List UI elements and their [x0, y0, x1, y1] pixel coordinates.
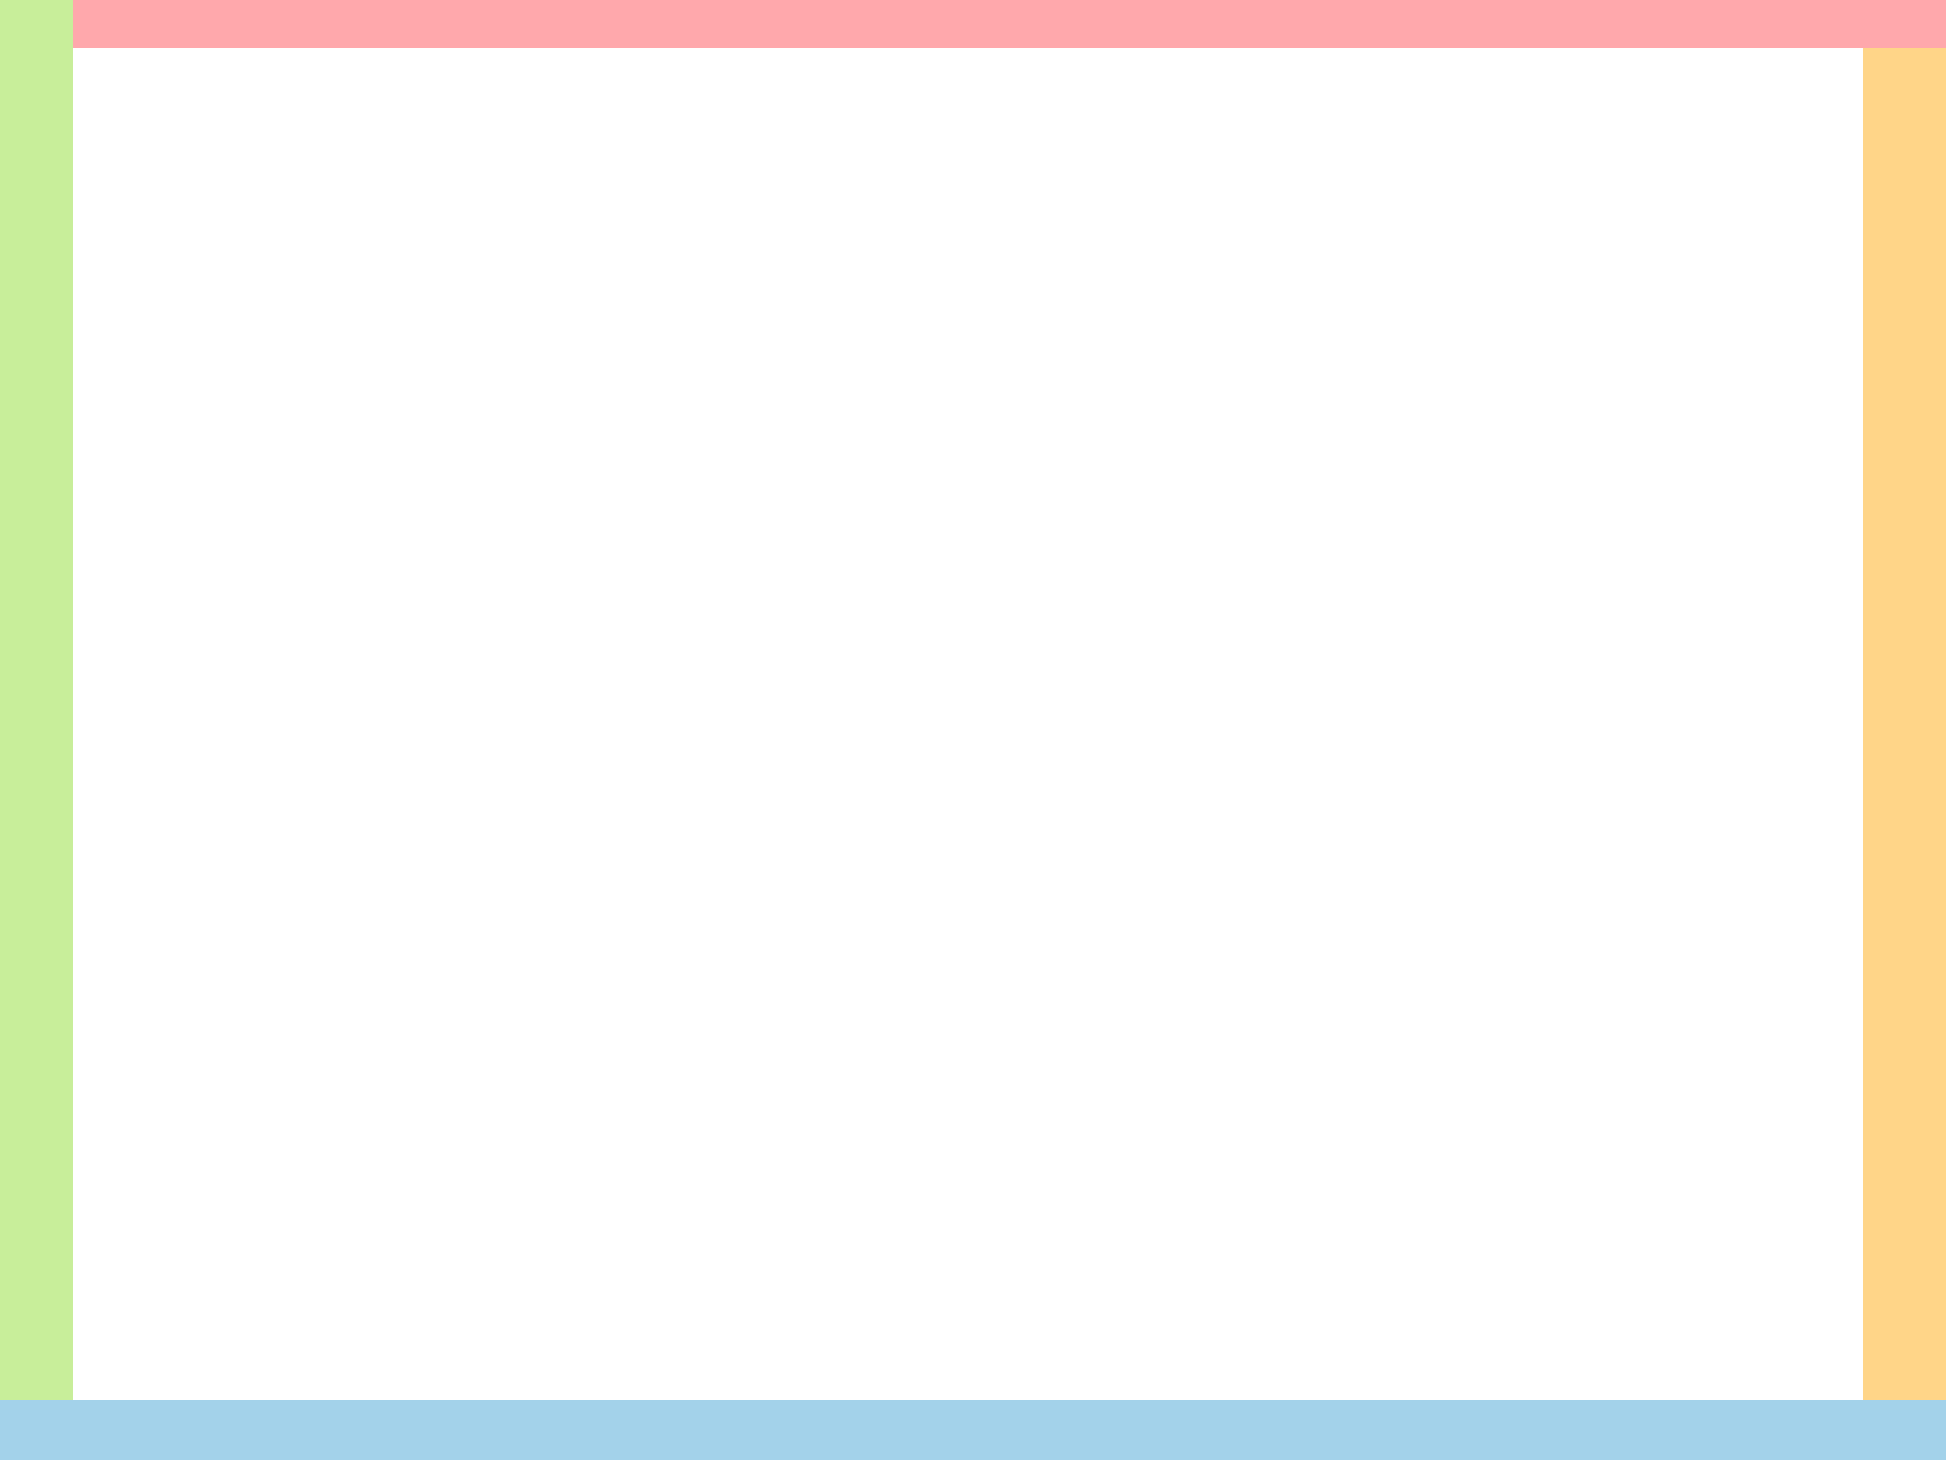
border-band-top-pink	[73, 0, 1946, 48]
content-area	[73, 48, 1863, 1400]
border-band-left-green	[0, 0, 73, 1400]
border-band-right-orange	[1863, 48, 1946, 1400]
border-band-bottom-blue	[0, 1400, 1946, 1460]
poster-canvas: REMINDER: THIS IS AN INSTANT DIGITAL DOW…	[0, 0, 1946, 1460]
